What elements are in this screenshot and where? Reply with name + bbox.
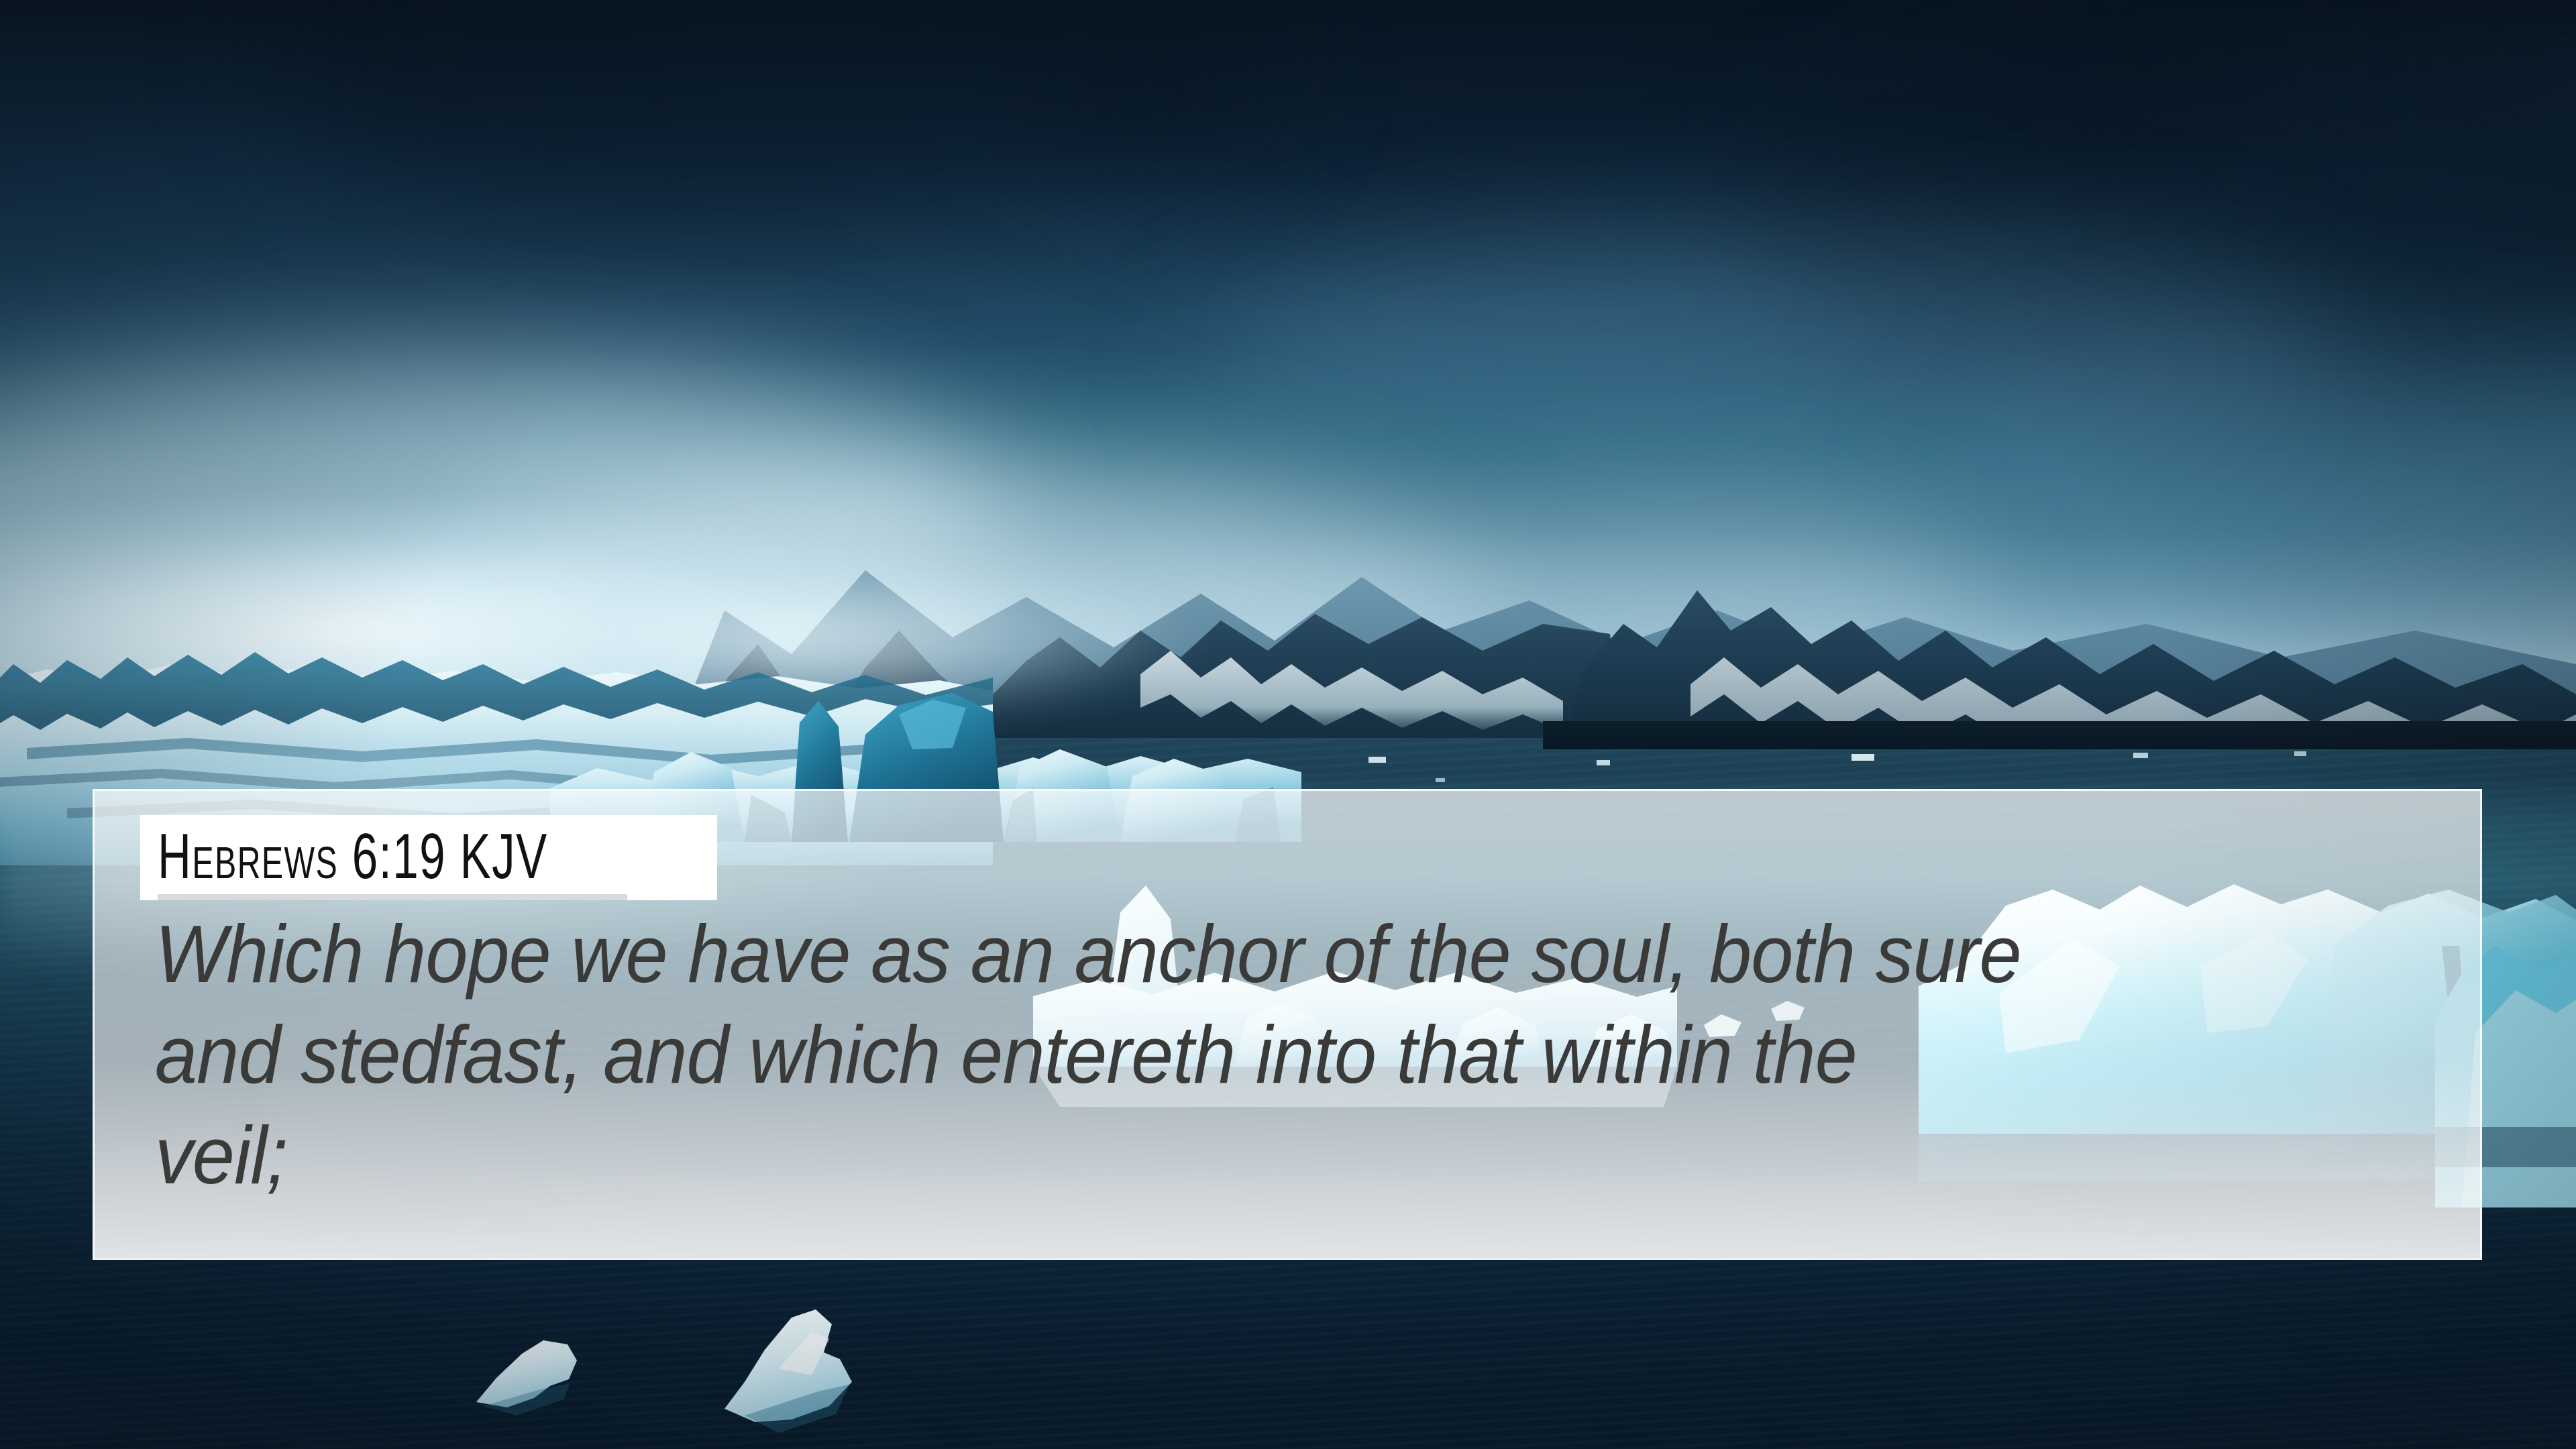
iceberg-speck-1 <box>1368 757 1386 763</box>
scripture-overlay-panel: Hebrews 6:19 KJV Which hope we have as a… <box>93 789 2482 1260</box>
far-shoreline <box>1543 721 2576 749</box>
verse-line-2: and stedfast, and which entereth into th… <box>155 1004 2280 1105</box>
reference-underline <box>158 894 627 900</box>
scripture-image: Hebrews 6:19 KJV Which hope we have as a… <box>0 0 2576 1449</box>
iceberg-speck-5 <box>2294 751 2306 756</box>
verse-line-3: veil; <box>155 1105 2280 1205</box>
iceberg-bottom-right <box>698 1295 899 1442</box>
iceberg-speck-4 <box>2133 753 2148 758</box>
reference-block: Hebrews 6:19 KJV <box>140 815 717 900</box>
scripture-reference: Hebrews 6:19 KJV <box>158 824 548 889</box>
iceberg-speck-3 <box>1851 754 1874 761</box>
iceberg-bottom-left <box>470 1322 657 1422</box>
verse-text: Which hope we have as an anchor of the s… <box>155 904 2440 1205</box>
verse-line-1: Which hope we have as an anchor of the s… <box>155 904 2280 1004</box>
iceberg-speck-6 <box>1436 778 1445 782</box>
iceberg-speck-2 <box>1597 760 1610 765</box>
